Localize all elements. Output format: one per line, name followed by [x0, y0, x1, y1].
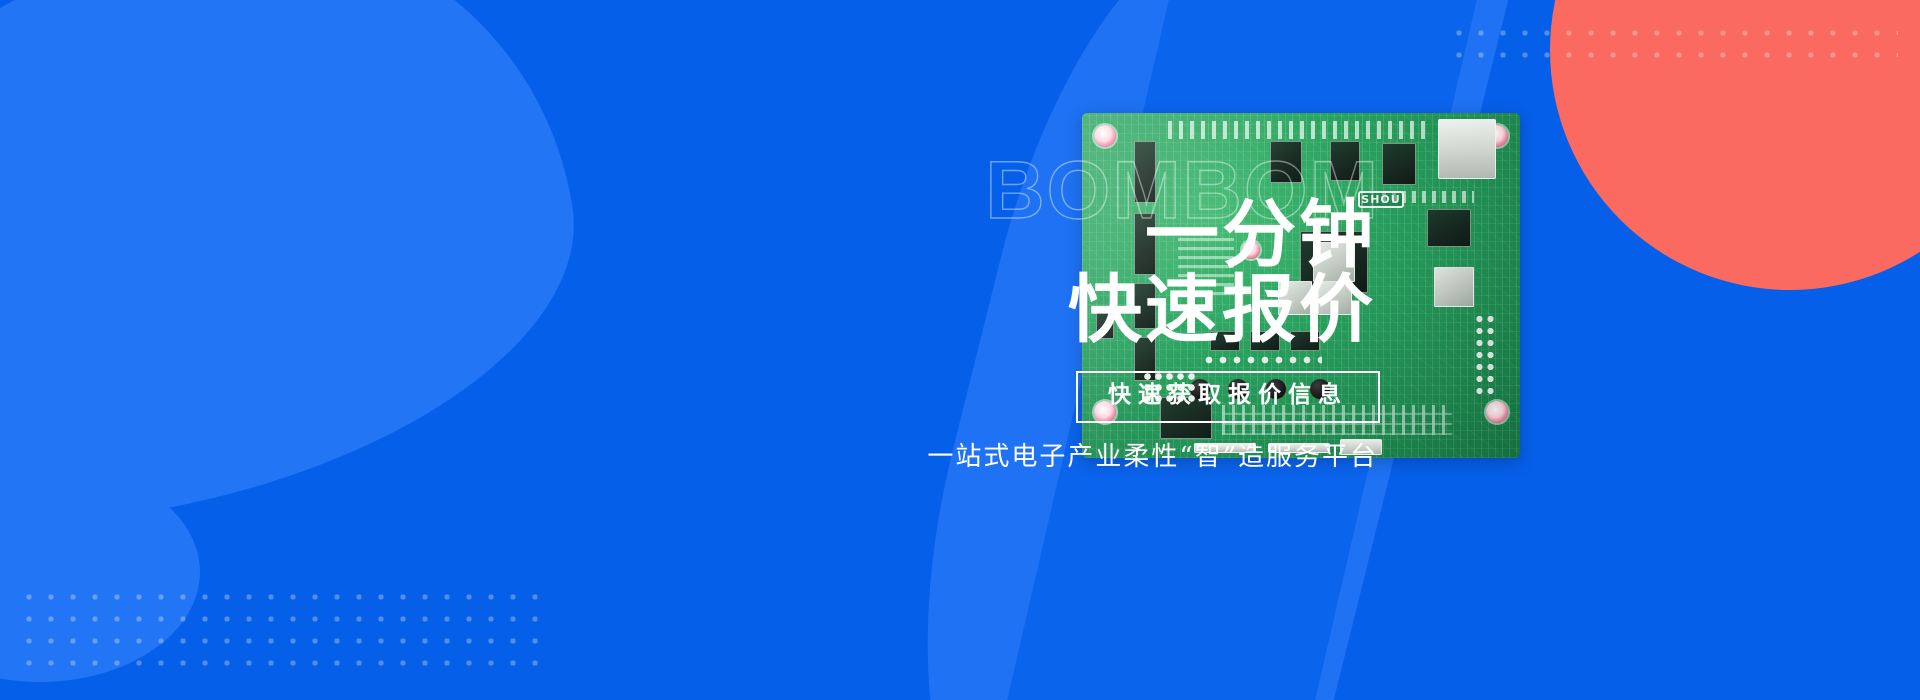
dot-pattern-top-right: [1448, 22, 1898, 66]
get-quote-button[interactable]: 快速获取报价信息: [1076, 371, 1380, 423]
promo-banner: SHOU BOMBOM 一分钟 快速报价 快速获取报价信息 一站式电子产业柔性“…: [0, 0, 1920, 700]
headline-line-2: 快速报价: [680, 273, 1376, 348]
page-title: 一分钟 快速报价: [680, 198, 1380, 349]
headline-line-1: 一分钟: [680, 198, 1376, 273]
banner-subtitle: 一站式电子产业柔性“智”造服务平台: [680, 441, 1380, 475]
dot-pattern-bottom-left: [18, 586, 538, 678]
banner-text-block: BOMBOM 一分钟 快速报价 快速获取报价信息 一站式电子产业柔性“智”造服务…: [680, 150, 1380, 474]
